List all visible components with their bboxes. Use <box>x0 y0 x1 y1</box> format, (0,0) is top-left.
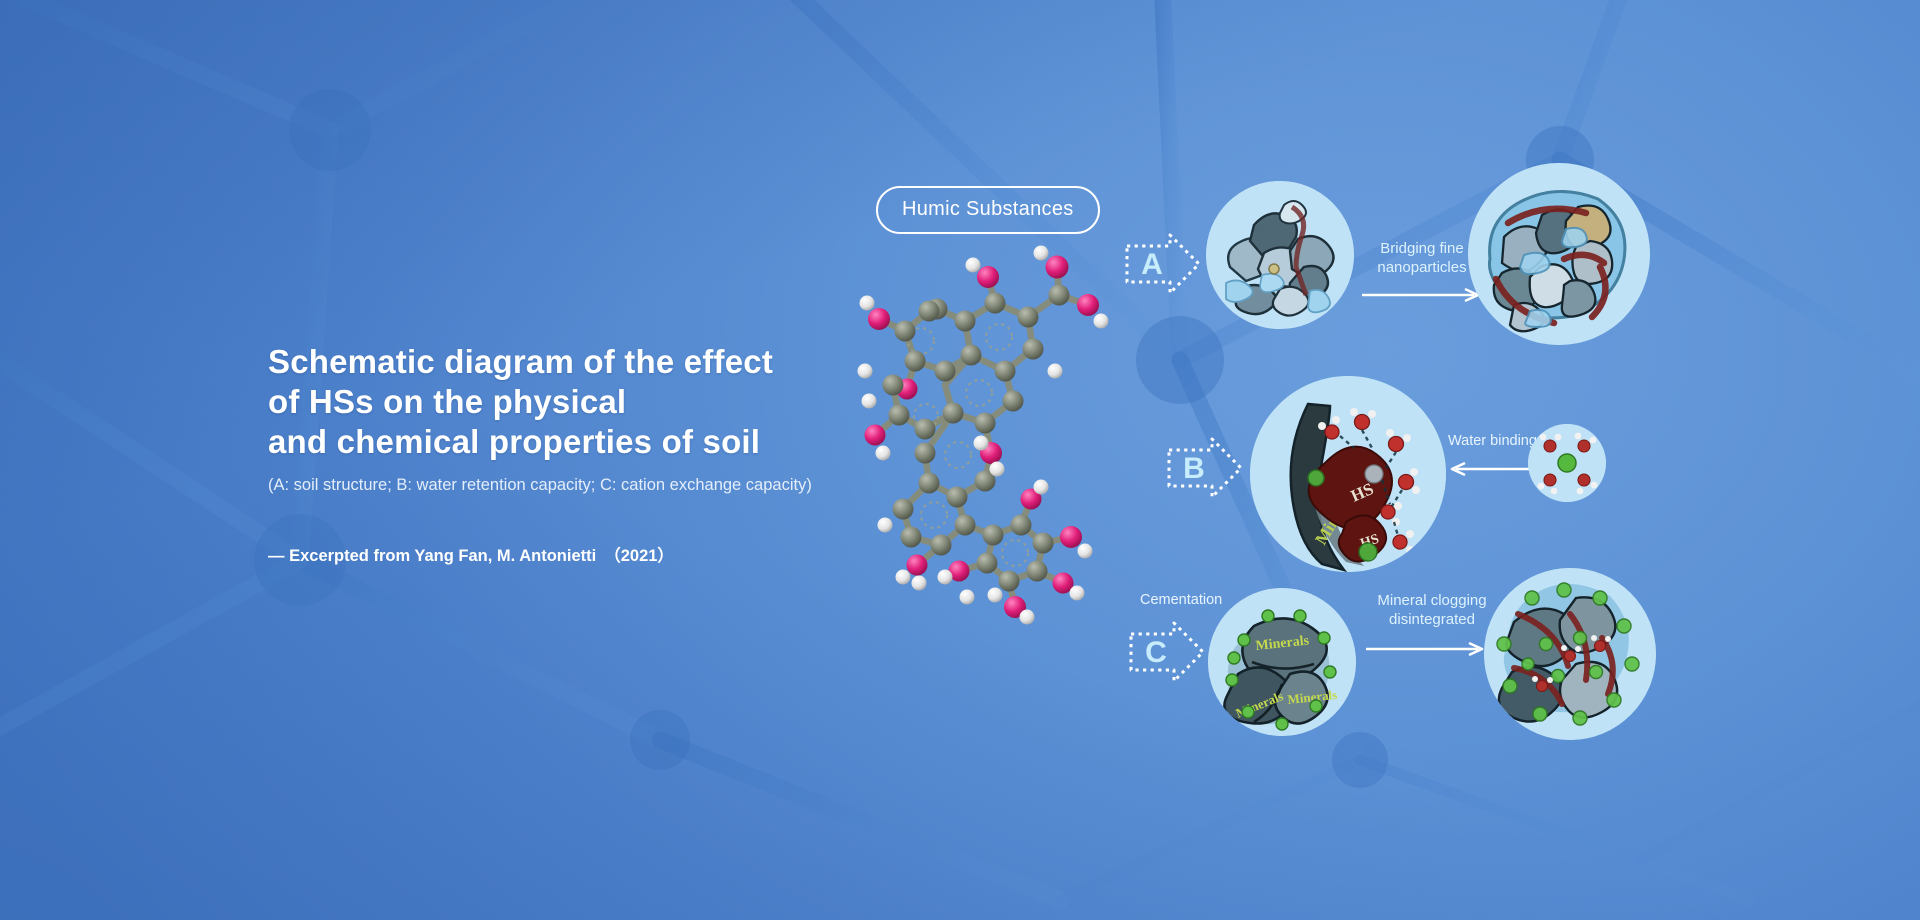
attribution-text: — Excerpted from Yang Fan, M. Antonietti <box>268 547 596 565</box>
page-subtitle: (A: soil structure; B: water retention c… <box>268 474 888 496</box>
left-text-panel: Schematic diagram of the effect of HSs o… <box>268 342 888 566</box>
arrow-a-right <box>1362 288 1486 302</box>
circle-b-hydrated-cation <box>1528 424 1606 502</box>
transition-label-b: Water binding <box>1448 432 1537 450</box>
attribution-year: （2021） <box>596 547 674 565</box>
transition-label-c: Mineral clogging disintegrated <box>1358 591 1506 629</box>
arrow-c-right <box>1366 642 1490 656</box>
cementation-label: Cementation <box>1140 591 1222 609</box>
stage-badge-c: C <box>1128 620 1206 684</box>
stage-badge-a: A <box>1124 232 1202 296</box>
stage-badge-b-letter: B <box>1183 452 1205 485</box>
circle-a-loose-aggregate <box>1206 181 1354 329</box>
poster-canvas: Schematic diagram of the effect of HSs o… <box>0 0 1920 920</box>
stage-badge-a-letter: A <box>1141 248 1163 281</box>
circle-b-hs-water-cluster: Mineral HS HS <box>1250 376 1446 572</box>
page-title-line-1: Schematic diagram of the effect <box>268 342 888 382</box>
source-attribution: — Excerpted from Yang Fan, M. Antonietti… <box>268 542 888 566</box>
circle-c-disintegrated-aggregate <box>1484 568 1656 740</box>
circle-c-cemented-aggregate: Minerals Minerals Minerals <box>1208 588 1356 736</box>
circle-a-bridged-aggregate <box>1468 163 1650 345</box>
page-title-line-2: of HSs on the physical <box>268 382 888 422</box>
stage-badge-b: B <box>1166 436 1244 500</box>
page-title: Schematic diagram of the effect of HSs o… <box>268 342 888 462</box>
stage-badge-c-letter: C <box>1145 636 1167 669</box>
page-title-line-3: and chemical properties of soil <box>268 422 888 462</box>
